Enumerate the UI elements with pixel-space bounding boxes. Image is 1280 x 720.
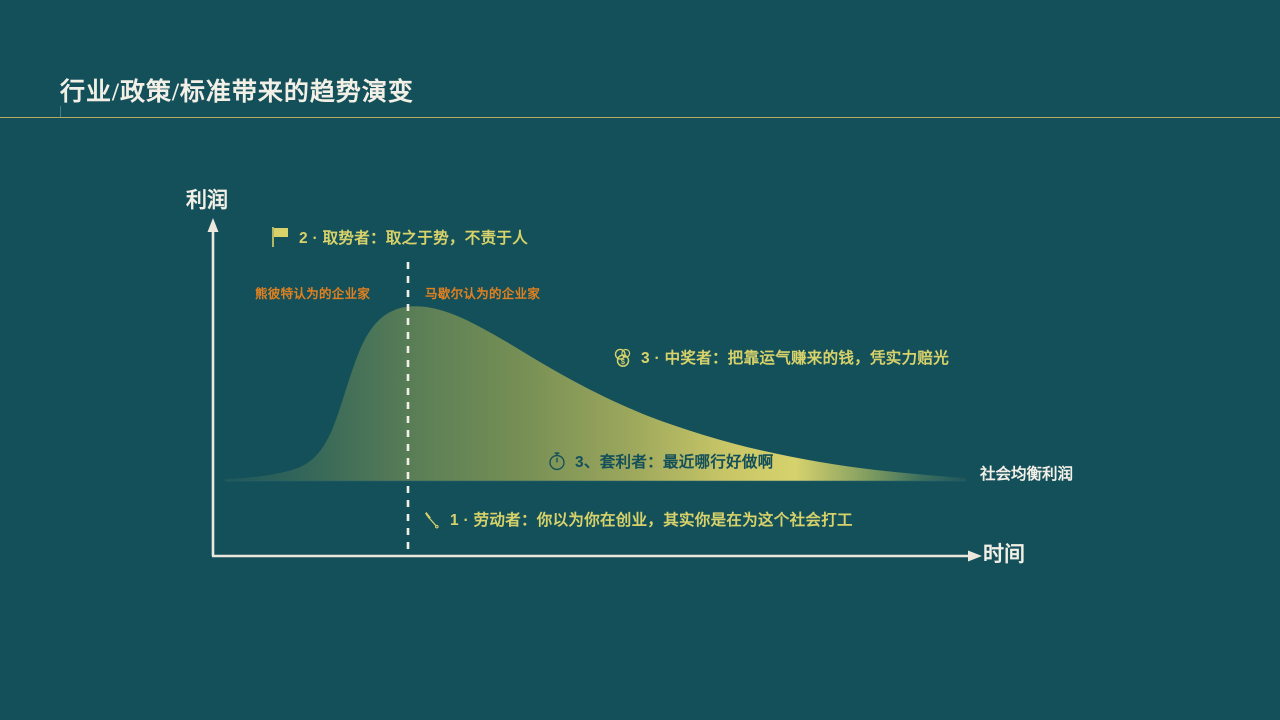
slide-canvas: 行业/政策/标准带来的趋势演变 (0, 0, 1280, 720)
money-bag-icon: $ (612, 346, 634, 368)
annotation-schumpeter-label: 熊彼特认为的企业家 (255, 283, 370, 302)
annotation-trend-rider-label: 2 · 取势者：取之于势，不责于人 (299, 226, 528, 248)
annotation-laborer: 1 · 劳动者：你以为你在创业，其实你是在为这个社会打工 (423, 508, 853, 530)
equilibrium-profit-label: 社会均衡利润 (980, 462, 1073, 484)
x-axis-label: 时间 (983, 538, 1025, 568)
x-axis-arrowhead (968, 551, 982, 562)
stopwatch-icon (546, 450, 568, 472)
annotation-lottery-winner: $ 3 · 中奖者：把靠运气赚来的钱，凭实力赔光 (612, 346, 949, 368)
annotation-marshall-label: 马歇尔认为的企业家 (425, 283, 540, 302)
svg-text:$: $ (621, 357, 625, 366)
annotation-schumpeter-entrepreneur: 熊彼特认为的企业家 (255, 283, 370, 302)
annotation-trend-rider: 2 · 取势者：取之于势，不责于人 (268, 225, 528, 249)
flag-icon (268, 225, 292, 249)
annotation-arbitrageur: 3、套利者：最近哪行好做啊 (546, 450, 774, 472)
annotation-lottery-winner-label: 3 · 中奖者：把靠运气赚来的钱，凭实力赔光 (641, 346, 949, 368)
annotation-marshall-entrepreneur: 马歇尔认为的企业家 (425, 283, 540, 302)
annotation-laborer-label: 1 · 劳动者：你以为你在创业，其实你是在为这个社会打工 (450, 508, 853, 530)
annotation-arbitrageur-label: 3、套利者：最近哪行好做啊 (575, 450, 774, 472)
y-axis-label: 利润 (186, 184, 228, 214)
y-axis-arrowhead (208, 218, 219, 232)
hammer-icon (423, 508, 443, 530)
